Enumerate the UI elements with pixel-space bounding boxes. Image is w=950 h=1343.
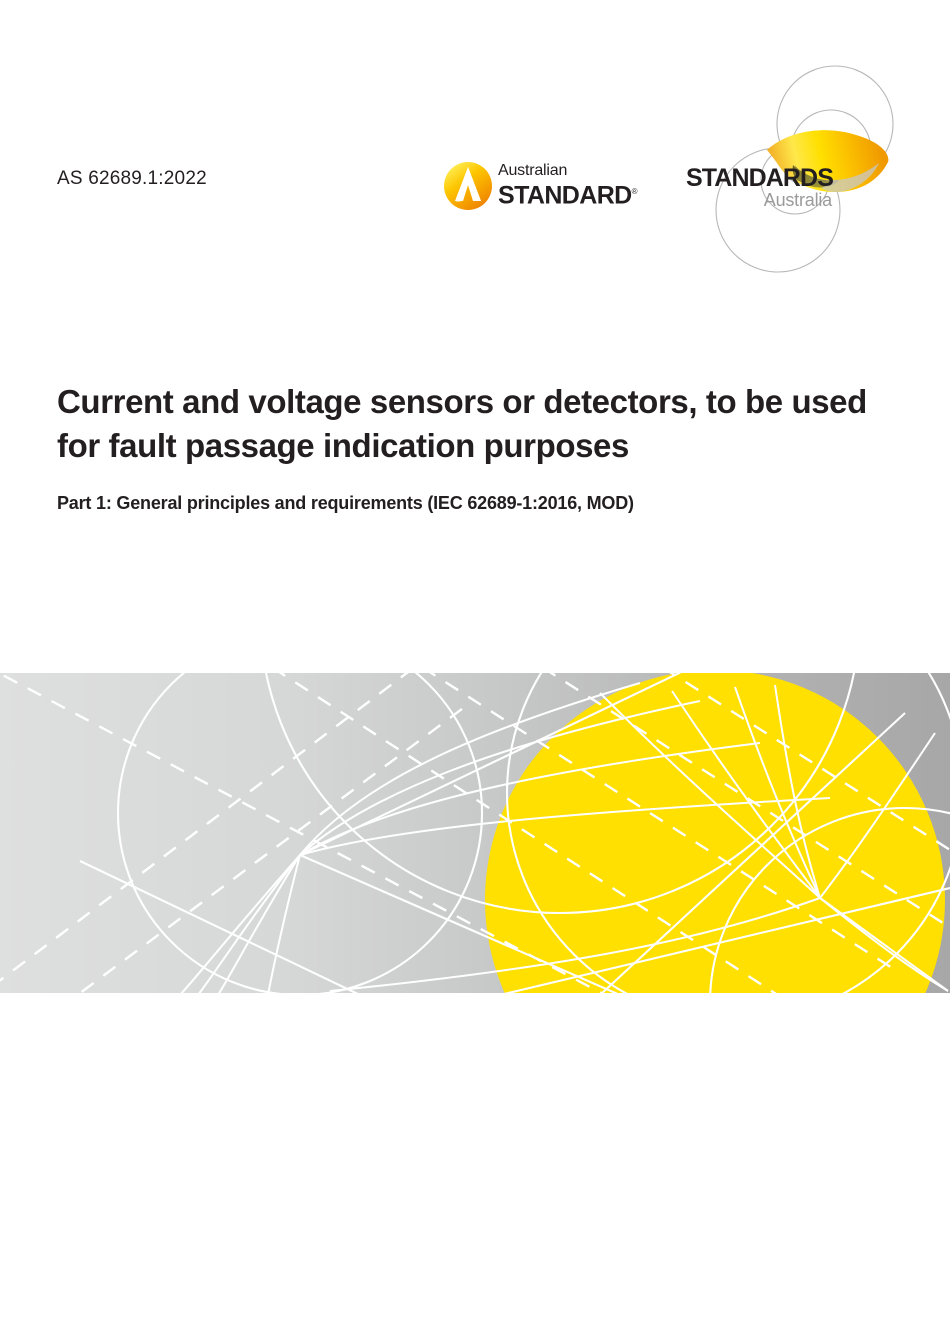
triangle-in-circle-icon [443, 161, 493, 211]
title-block: Current and voltage sensors or detectors… [57, 380, 867, 515]
sa-logo-line1: STANDARDS [686, 166, 832, 191]
page-header: AS 62689.1:2022 [0, 0, 950, 300]
decorative-band [0, 673, 950, 993]
australian-standard-wordmark: Australian STANDARD® [498, 163, 638, 209]
document-number: AS 62689.1:2022 [57, 168, 207, 190]
as-logo-line1: Australian [498, 163, 638, 179]
as-logo-line2: STANDARD [498, 181, 632, 209]
australian-standard-logo: Australian STANDARD® [443, 160, 638, 212]
abstract-arcs-graphic [0, 673, 950, 993]
sa-logo-line2: Australia [686, 191, 832, 210]
page-title: Current and voltage sensors or detectors… [57, 380, 867, 468]
standards-australia-logo: STANDARDS Australia [683, 62, 911, 290]
page-subtitle: Part 1: General principles and requireme… [57, 491, 867, 515]
standards-australia-wordmark: STANDARDS Australia [686, 166, 832, 210]
registered-trademark-icon: ® [632, 187, 638, 196]
